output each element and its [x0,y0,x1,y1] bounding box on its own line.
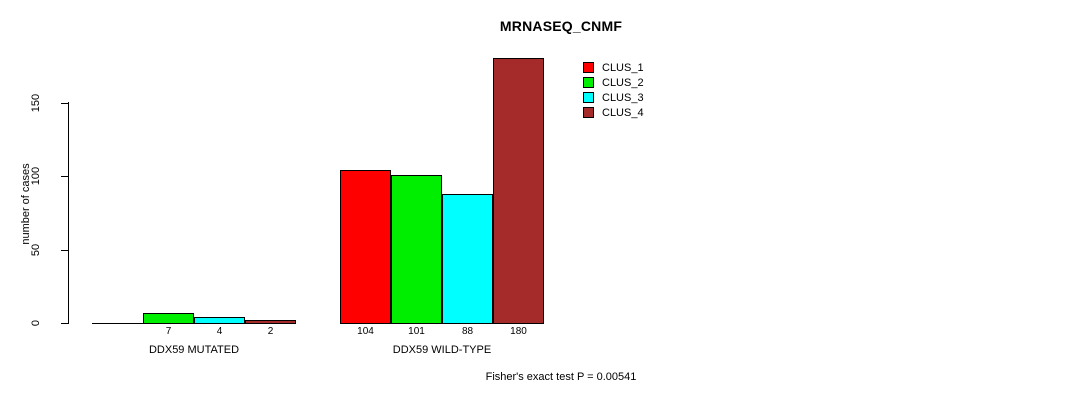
chart-legend: CLUS_1CLUS_2CLUS_3CLUS_4 [583,60,713,120]
legend-item: CLUS_3 [583,90,713,105]
bar-value-label: 101 [391,325,442,338]
y-axis-tick-label: 100 [30,156,42,196]
footer-annotation: Fisher's exact test P = 0.00541 [0,371,1090,383]
bar [194,317,245,324]
legend-item-label: CLUS_3 [602,92,644,104]
bar [143,313,194,324]
chart-canvas: MRNASEQ_CNMF number of cases 050100150 7… [0,0,1090,400]
bar-value-label: 7 [143,325,194,338]
legend-item-label: CLUS_1 [602,62,644,74]
bar [245,320,296,324]
bar-value-label: 104 [340,325,391,338]
y-axis-tick-label: 150 [30,83,42,123]
legend-item: CLUS_4 [583,105,713,120]
bar [442,194,493,324]
bar [340,170,391,324]
chart-title: MRNASEQ_CNMF [0,18,1090,34]
y-axis-tick [61,176,68,177]
y-axis-tick-label: 50 [30,230,42,270]
y-axis-tick [61,250,68,251]
bar-value-label: 88 [442,325,493,338]
bar-value-label: 180 [493,325,544,338]
legend-color-swatch [583,92,594,103]
bar [493,58,544,324]
legend-color-swatch [583,77,594,88]
bar-value-label: 4 [194,325,245,338]
bar [391,175,442,324]
legend-color-swatch [583,62,594,73]
x-axis-group-label: DDX59 WILD-TYPE [340,343,544,357]
y-axis-tick [61,103,68,104]
legend-item-label: CLUS_4 [602,107,644,119]
legend-color-swatch [583,107,594,118]
bar-value-label: 2 [245,325,296,338]
y-axis-line [68,102,69,324]
y-axis-tick [61,323,68,324]
legend-item: CLUS_2 [583,75,713,90]
legend-item: CLUS_1 [583,60,713,75]
x-axis-group-label: DDX59 MUTATED [92,343,296,357]
legend-item-label: CLUS_2 [602,77,644,89]
bar [92,323,143,324]
y-axis-tick-label: 0 [30,303,42,343]
